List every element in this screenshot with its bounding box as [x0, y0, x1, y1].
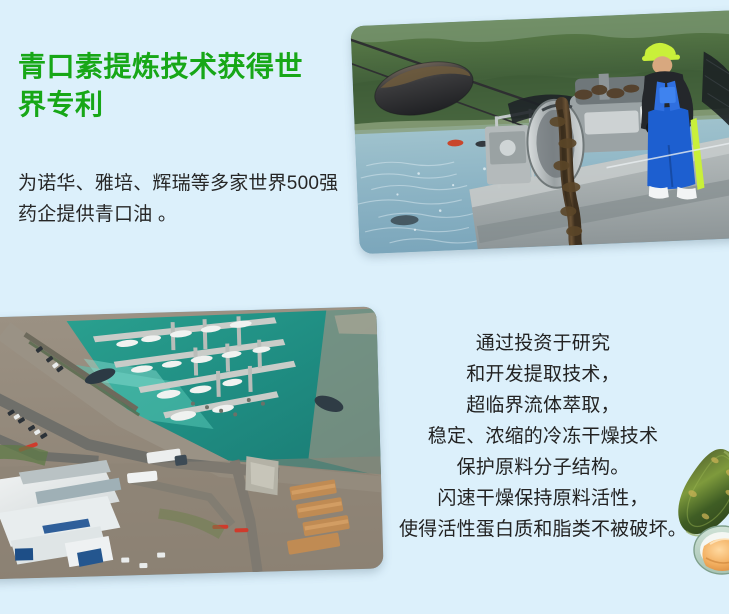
- aerial-photo-inner: [0, 306, 384, 579]
- process-line: 保护原料分子结构。: [398, 452, 688, 483]
- promo-page: 青口素提炼技术获得世 界专利 为诺华、雅培、辉瑞等多家世界500强 药企提供青口…: [0, 0, 729, 614]
- process-line: 通过投资于研究: [398, 328, 688, 359]
- process-line: 超临界流体萃取，: [398, 390, 688, 421]
- mussel-harvesting-boat-photo: [350, 10, 729, 254]
- process-line: 和开发提取技术，: [398, 359, 688, 390]
- lead-paragraph: 为诺华、雅培、辉瑞等多家世界500强 药企提供青口油 。: [18, 168, 358, 230]
- aerial-marina-harbour-photo: [0, 306, 384, 579]
- boat-photo-art: [350, 10, 729, 254]
- boat-photo-inner: [350, 10, 729, 254]
- page-title: 青口素提炼技术获得世 界专利: [18, 48, 348, 124]
- headline-block: 青口素提炼技术获得世 界专利: [18, 48, 348, 124]
- process-line: 稳定、浓缩的冷冻干燥技术: [398, 421, 688, 452]
- aerial-photo-art: [0, 306, 384, 579]
- process-line: 使得活性蛋白质和脂类不被破坏。: [398, 514, 688, 545]
- process-description-block: 通过投资于研究 和开发提取技术， 超临界流体萃取， 稳定、浓缩的冷冻干燥技术 保…: [398, 328, 688, 545]
- process-line: 闪速干燥保持原料活性，: [398, 483, 688, 514]
